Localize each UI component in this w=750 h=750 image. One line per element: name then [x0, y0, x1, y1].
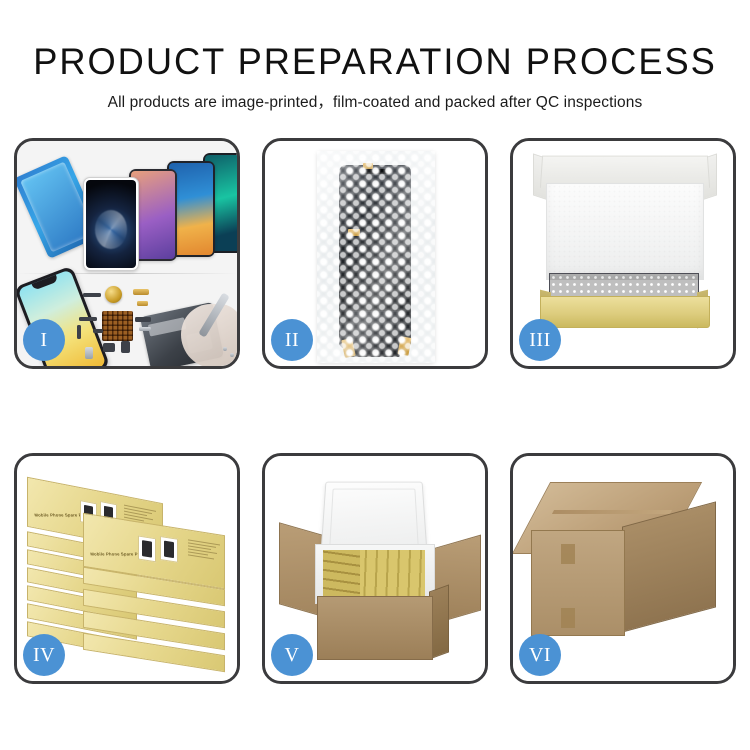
process-step-4: Mobile Phone Spare Parts Mobile Phone Sp…	[14, 453, 240, 684]
phone-dark-lcd	[83, 177, 139, 271]
product-preparation-infographic: PRODUCT PREPARATION PROCESS All products…	[0, 0, 750, 750]
bubble-bag	[317, 151, 435, 363]
step-badge-1: I	[23, 319, 65, 361]
box-product-image	[160, 536, 178, 563]
speaker-part	[103, 343, 115, 352]
camera-part	[121, 341, 130, 353]
process-step-6: VI	[510, 453, 736, 684]
step-badge-5: V	[271, 634, 313, 676]
step-badge-4: IV	[23, 634, 65, 676]
header: PRODUCT PREPARATION PROCESS All products…	[0, 0, 750, 113]
flex-part	[93, 329, 103, 333]
flex-part	[133, 289, 149, 295]
process-step-3: III	[510, 138, 736, 369]
screw-part	[230, 353, 234, 357]
flex-part	[137, 301, 148, 306]
box-front-wall	[540, 296, 710, 328]
box-product-image	[138, 535, 156, 562]
step-badge-2: II	[271, 319, 313, 361]
flex-part	[83, 293, 101, 297]
flex-part	[135, 317, 151, 322]
plastic-sheen	[317, 151, 435, 363]
flex-part	[139, 327, 151, 331]
yellow-boxes-inside	[323, 550, 425, 596]
step-badge-6: VI	[519, 634, 561, 676]
screw-grid-part	[102, 311, 133, 341]
carton-tape-upper	[561, 544, 575, 564]
process-step-1: I	[14, 138, 240, 369]
carton-front-wall	[317, 596, 433, 660]
page-title: PRODUCT PREPARATION PROCESS	[8, 0, 743, 84]
screw-part	[223, 347, 227, 351]
page-subtitle: All products are image-printed，film-coat…	[0, 84, 750, 113]
flex-part	[77, 325, 81, 339]
carton-tape-lower	[561, 608, 575, 628]
carton-front-face	[531, 530, 625, 636]
process-step-2: II	[262, 138, 488, 369]
step-badge-3: III	[519, 319, 561, 361]
vibration-motor-part	[105, 286, 122, 303]
carton-top-seam	[552, 510, 672, 514]
process-step-5: V	[262, 453, 488, 684]
white-foam-sheet	[546, 183, 704, 280]
process-step-grid: I II	[14, 138, 736, 736]
flex-part	[79, 317, 97, 321]
battery-connector-part	[85, 347, 93, 359]
